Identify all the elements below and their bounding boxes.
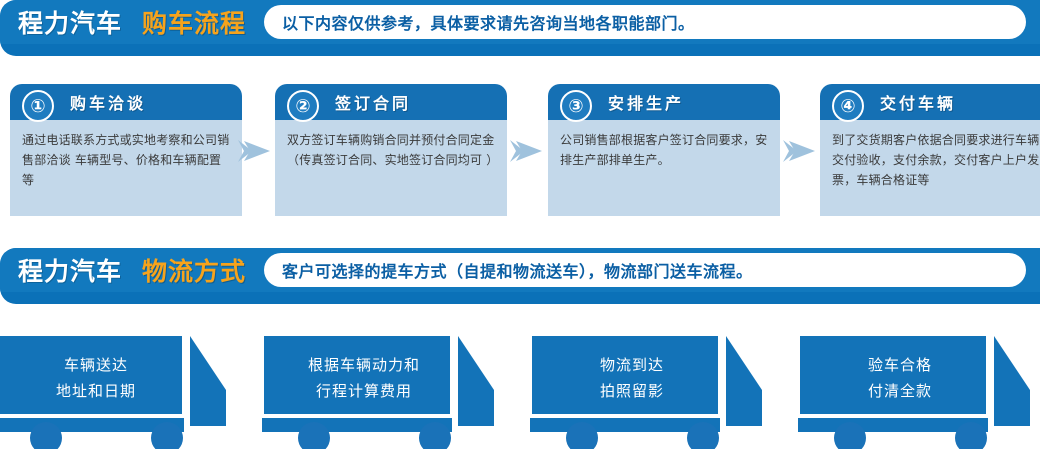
step-card-3-body: 公司销售部根据客户签订合同要求，安排生产部排单生产。 [548, 120, 780, 216]
step-number-badge-1: ① [22, 90, 54, 122]
step-card-1[interactable]: ① 购车洽谈 通过电话联系方式或实地考察和公司销售部洽谈 车辆型号、价格和车辆配… [10, 84, 242, 216]
step-card-4-title: 交付车辆 [880, 84, 956, 120]
step-card-2[interactable]: ② 签订合同 双方签订车辆购销合同并预付合同定金（传真签订合同、实地签订合同均可… [275, 84, 507, 216]
truck-icon [0, 330, 240, 449]
truck-icon [530, 330, 776, 449]
step-number-badge-3: ③ [560, 90, 592, 122]
process-steps: ① 购车洽谈 通过电话联系方式或实地考察和公司销售部洽谈 车辆型号、价格和车辆配… [0, 84, 1040, 218]
step-card-2-header: ② 签订合同 [275, 84, 507, 120]
step-card-4[interactable]: ④ 交付车辆 到了交货期客户依据合同要求进行车辆交付验收，支付余款，交付客户上户… [820, 84, 1040, 216]
step-card-3-header: ③ 安排生产 [548, 84, 780, 120]
note-text-logistics: 客户可选择的提车方式（自提和物流送车），物流部门送车流程。 [282, 258, 753, 282]
step-card-2-body: 双方签订车辆购销合同并预付合同定金（传真签订合同、实地签订合同均可 ） [275, 120, 507, 216]
step-card-4-body: 到了交货期客户依据合同要求进行车辆交付验收，支付余款，交付客户上户发票，车辆合格… [820, 120, 1040, 216]
step-card-1-header: ① 购车洽谈 [10, 84, 242, 120]
step-card-1-body: 通过电话联系方式或实地考察和公司销售部洽谈 车辆型号、价格和车辆配置等 [10, 120, 242, 216]
section-title-purchase: 购车流程 [142, 4, 246, 40]
step-card-3-text: 公司销售部根据客户签订合同要求，安排生产部排单生产。 [560, 130, 768, 170]
section-title-logistics: 物流方式 [142, 252, 246, 288]
truck-card-4[interactable]: 验车合格 付清全款 [798, 330, 1040, 449]
banner-logistics: 程力汽车 物流方式 客户可选择的提车方式（自提和物流送车），物流部门送车流程。 [0, 248, 1040, 304]
truck-card-2[interactable]: 根据车辆动力和 行程计算费用 [262, 330, 508, 449]
banner-purchase-process: 程力汽车 购车流程 以下内容仅供参考，具体要求请先咨询当地各职能部门。 [0, 0, 1040, 56]
step-card-2-text: 双方签订车辆购销合同并预付合同定金（传真签订合同、实地签订合同均可 ） [287, 130, 495, 170]
step-card-1-title: 购车洽谈 [70, 84, 146, 120]
step-card-3[interactable]: ③ 安排生产 公司销售部根据客户签订合同要求，安排生产部排单生产。 [548, 84, 780, 216]
step-card-4-text: 到了交货期客户依据合同要求进行车辆交付验收，支付余款，交付客户上户发票，车辆合格… [832, 130, 1040, 190]
right-arrow-icon [238, 138, 272, 164]
logistics-truck-row: 车辆送达 地址和日期 根据车辆动力和 行程计算费用 物流到达 拍照留影 [0, 330, 1040, 449]
step-card-2-title: 签订合同 [335, 84, 411, 120]
step-number-badge-2: ② [287, 90, 319, 122]
truck-card-1[interactable]: 车辆送达 地址和日期 [0, 330, 240, 449]
note-pill-purchase: 以下内容仅供参考，具体要求请先咨询当地各职能部门。 [264, 5, 1026, 39]
step-card-3-title: 安排生产 [608, 84, 684, 120]
step-number-badge-4: ④ [832, 90, 864, 122]
truck-icon [798, 330, 1040, 449]
note-text-purchase: 以下内容仅供参考，具体要求请先咨询当地各职能部门。 [282, 10, 695, 34]
truck-card-3[interactable]: 物流到达 拍照留影 [530, 330, 776, 449]
note-pill-logistics: 客户可选择的提车方式（自提和物流送车），物流部门送车流程。 [264, 253, 1026, 287]
truck-icon [262, 330, 508, 449]
brand-name: 程力汽车 [18, 4, 122, 40]
step-card-4-header: ④ 交付车辆 [820, 84, 1040, 120]
step-card-1-text: 通过电话联系方式或实地考察和公司销售部洽谈 车辆型号、价格和车辆配置等 [22, 130, 230, 190]
brand-name: 程力汽车 [18, 252, 122, 288]
right-arrow-icon [510, 138, 544, 164]
right-arrow-icon [783, 138, 817, 164]
